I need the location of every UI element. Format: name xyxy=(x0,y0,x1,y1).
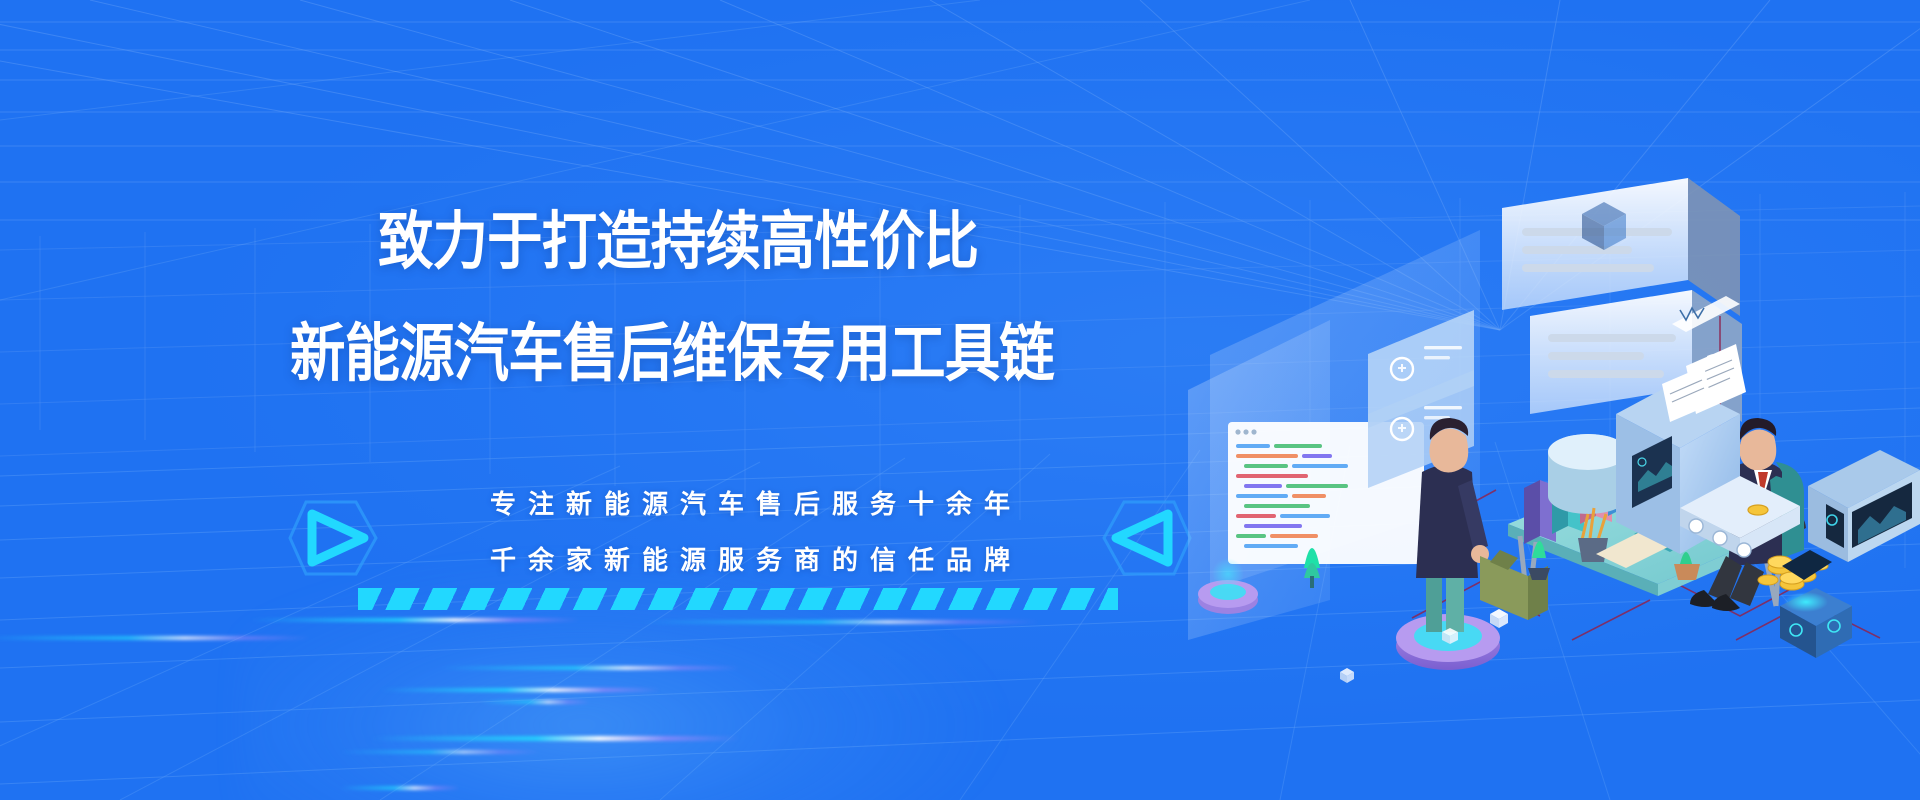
hero-banner: 致力于打造持续高性价比 新能源汽车售后维保专用工具链 专注新能源汽车售后服务十余… xyxy=(0,0,1920,800)
monitor-chart-screen xyxy=(1808,450,1920,562)
subtitle-line-1: 专注新能源汽车售后服务十余年 xyxy=(300,484,1200,521)
headline-line-1: 致力于打造持续高性价比 xyxy=(378,206,978,278)
chat-bubble-card-1 xyxy=(1502,178,1740,316)
copy-block: 致力于打造持续高性价比 新能源汽车售后维保专用工具链 专注新能源汽车售后服务十余… xyxy=(0,0,1240,800)
subtitle-line-2: 千余家新能源服务商的信任品牌 xyxy=(300,540,1200,577)
isometric-illustration xyxy=(1180,170,1920,690)
data-cube-node xyxy=(1780,550,1852,658)
diagonal-stripe-bar xyxy=(358,588,1118,610)
headline-line-2: 新能源汽车售后维保专用工具链 xyxy=(290,318,1054,390)
